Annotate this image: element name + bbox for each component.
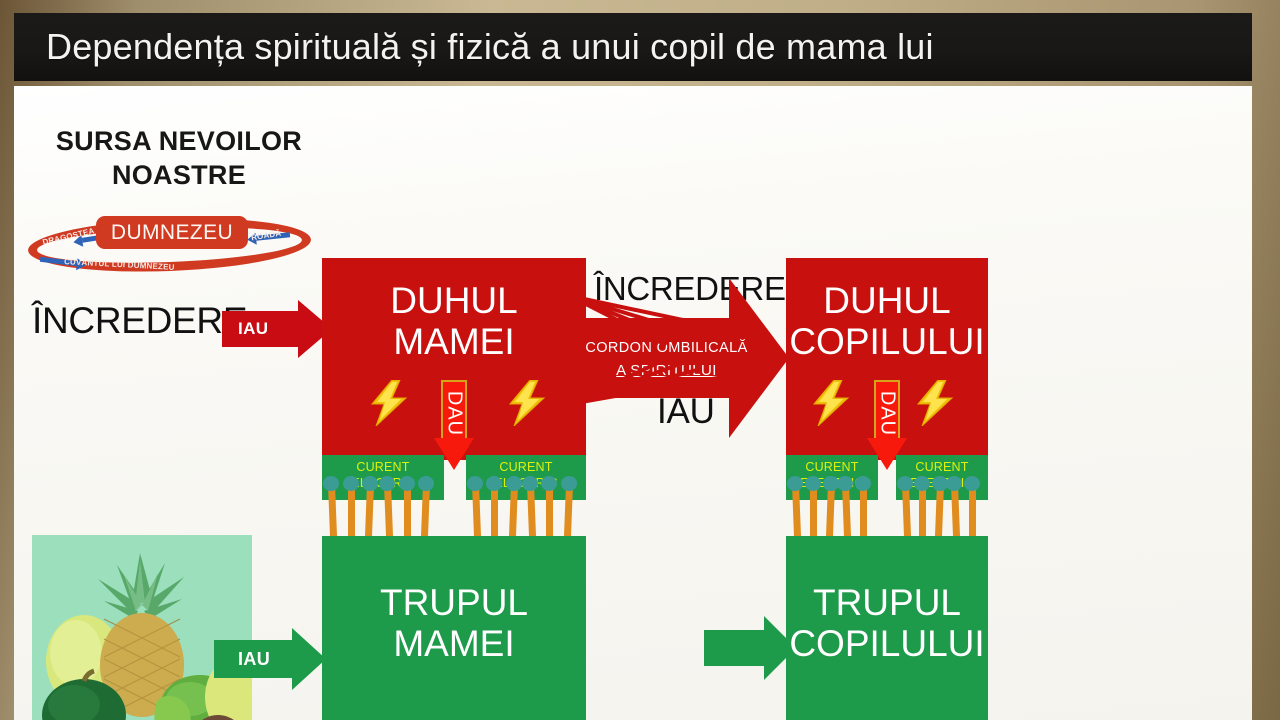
nerve-stick-head <box>379 476 396 492</box>
nerve-stick <box>860 482 867 538</box>
nerve-stick <box>384 482 393 538</box>
nerve-stick <box>421 482 430 538</box>
nerve-stick-head <box>946 476 963 492</box>
nerve-stick-head <box>897 476 914 492</box>
take-arrow-nature-label: IAU <box>238 649 270 670</box>
nerve-stick <box>919 482 926 538</box>
nerve-stick <box>348 482 355 538</box>
nerve-stick <box>935 482 944 538</box>
child-body-title: TRUPUL COPILULUI <box>786 582 988 665</box>
nerve-stick <box>328 482 337 538</box>
mother-nerve-connectors-right <box>470 482 586 538</box>
nerve-stick-head <box>560 476 577 492</box>
page-title: Dependența spirituală și fizică a unui c… <box>46 26 934 68</box>
child-spirit-box: DUHUL COPILULUI DAU <box>786 258 988 460</box>
mother-give-label: DAU <box>443 382 466 446</box>
nerve-stick-head <box>362 476 379 492</box>
child-spirit-title: DUHUL COPILULUI <box>786 280 988 363</box>
nerve-stick-head <box>787 476 804 492</box>
nerve-stick <box>810 482 817 538</box>
mother-spirit-title: DUHUL MAMEI <box>322 280 586 363</box>
take-arrow-spirit-left: IAU <box>222 300 332 358</box>
slide-content: SURSA NEVOILOR NOASTRE DUMNEZEU DRAGOSTE… <box>14 86 1252 720</box>
spiritual-umbilical-cord: CORDON OMBILICALĂ A SPIRITULUI <box>574 262 804 462</box>
take-arrow-label: IAU <box>238 319 268 339</box>
nerve-stick <box>902 482 911 538</box>
lightning-bolt-icon <box>812 380 850 426</box>
nerve-stick-head <box>522 476 539 492</box>
nerve-stick <box>826 482 835 538</box>
arrow-shaft <box>704 630 766 666</box>
nerve-stick-head <box>541 476 557 491</box>
nerve-stick-head <box>505 476 522 492</box>
mother-spirit-box: DUHUL MAMEI DAU <box>322 258 586 460</box>
child-give-label: DAU <box>876 382 899 446</box>
nerve-stick <box>564 482 573 538</box>
take-label-cordon: IAU <box>657 392 715 432</box>
child-nerve-connectors-right <box>900 482 988 538</box>
nerve-stick <box>842 482 851 538</box>
nerve-stick-head <box>964 476 980 491</box>
nerve-stick-head <box>418 476 435 492</box>
child-body-box: TRUPUL COPILULUI <box>786 536 988 720</box>
nerve-stick <box>491 482 498 538</box>
mother-body-title: TRUPUL MAMEI <box>322 582 586 665</box>
nerve-stick <box>951 482 960 538</box>
nerve-stick-head <box>855 476 871 491</box>
nerve-stick-head <box>914 476 930 491</box>
nerve-stick-head <box>805 476 821 491</box>
lightning-bolt-icon <box>508 380 546 426</box>
nerve-stick <box>472 482 481 538</box>
nerve-stick-head <box>467 476 484 492</box>
take-arrow-nature: IAU <box>214 628 326 690</box>
nerve-stick <box>969 482 976 538</box>
nerve-stick <box>404 482 411 538</box>
god-label: DUMNEZEU <box>96 216 248 249</box>
nerve-stick-head <box>323 476 340 492</box>
section-heading-source: SURSA NEVOILOR NOASTRE <box>34 124 324 192</box>
slide-title-bar: Dependența spirituală și fizică a unui c… <box>14 13 1252 81</box>
body-to-body-arrow <box>704 616 798 680</box>
nerve-stick <box>365 482 374 538</box>
nerve-stick <box>546 482 553 538</box>
nerve-stick <box>509 482 518 538</box>
lightning-bolt-icon <box>370 380 408 426</box>
lightning-bolt-icon <box>916 380 954 426</box>
trust-label-left: ÎNCREDERE <box>32 300 247 342</box>
arrow-head <box>729 278 789 438</box>
nerve-stick-head <box>486 476 502 491</box>
mother-body-box: TRUPUL MAMEI <box>322 536 586 720</box>
nerve-stick <box>792 482 801 538</box>
nerve-stick-head <box>343 476 359 491</box>
nerve-stick-head <box>837 476 854 492</box>
arrow-head <box>292 628 326 690</box>
mother-nerve-connectors-left <box>326 482 446 538</box>
child-nerve-connectors-left <box>790 482 880 538</box>
god-source-diagram: DUMNEZEU DRAGOSTEA ROADĂ CUVÂNTUL LUI DU… <box>20 213 320 275</box>
nerve-stick <box>527 482 536 538</box>
nerve-stick-head <box>399 476 415 491</box>
slide-canvas: Dependența spirituală și fizică a unui c… <box>14 13 1266 720</box>
